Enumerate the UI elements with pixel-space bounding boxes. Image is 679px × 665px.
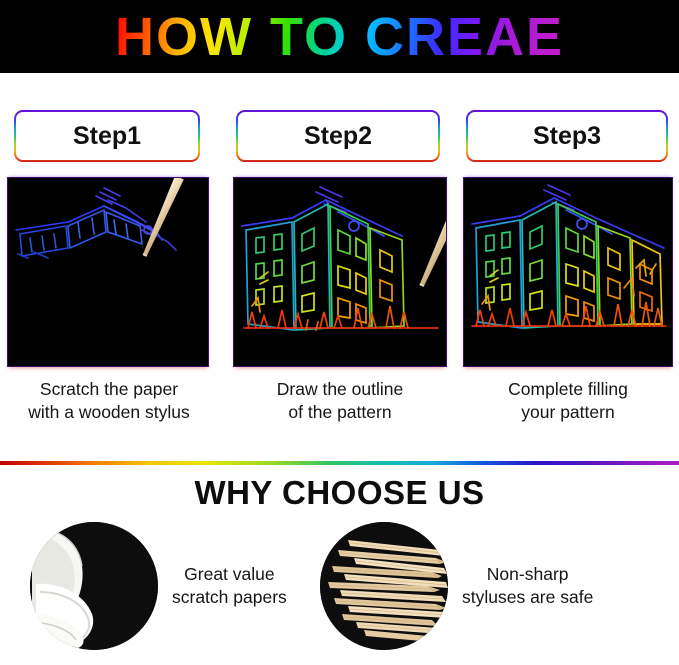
feature-wooden-styluses-caption: Non-sharp styluses are safe (462, 563, 593, 609)
feature-2-line2: styluses are safe (462, 586, 593, 609)
scratch-art-complete-icon (464, 178, 672, 366)
step-caption-1-line2: with a wooden stylus (4, 401, 214, 424)
step-caption-2: Draw the outline of the pattern (232, 378, 448, 424)
step-labels-row: Step1 Step2 Step3 (0, 110, 679, 168)
step-label-box-1: Step1 (14, 110, 200, 162)
step-image-2 (234, 178, 446, 366)
feature-1-line2: scratch papers (172, 586, 287, 609)
step-panels-row (0, 178, 679, 368)
step-label-box-2: Step2 (236, 110, 440, 162)
step-captions-row: Scratch the paper with a wooden stylus D… (0, 378, 679, 440)
step-image-3 (464, 178, 672, 366)
step-label-inner-3: Step3 (468, 112, 666, 160)
step-caption-2-line1: Draw the outline (232, 378, 448, 401)
why-choose-us-title: WHY CHOOSE US (0, 474, 679, 512)
step-label-text-2: Step2 (304, 122, 372, 151)
features-row: Great value scratch papers (0, 522, 679, 665)
scratch-art-partial-icon (8, 178, 208, 366)
scratch-paper-photo (30, 522, 158, 650)
step-caption-3: Complete filling your pattern (462, 378, 674, 424)
header-banner: HOW TO CREAE (0, 0, 679, 73)
scratch-art-outline-icon (234, 178, 446, 366)
step-label-text-1: Step1 (73, 122, 141, 151)
page-title: HOW TO CREAE (115, 10, 564, 64)
step-caption-3-line2: your pattern (462, 401, 674, 424)
feature-2-line1: Non-sharp (462, 563, 593, 586)
step-caption-1: Scratch the paper with a wooden stylus (4, 378, 214, 424)
step-label-inner-1: Step1 (16, 112, 198, 160)
feature-scratch-papers-caption: Great value scratch papers (172, 563, 287, 609)
step-image-1 (8, 178, 208, 366)
step-label-box-3: Step3 (466, 110, 668, 162)
feature-wooden-styluses: Non-sharp styluses are safe (320, 522, 593, 650)
step-caption-1-line1: Scratch the paper (4, 378, 214, 401)
step-label-text-3: Step3 (533, 122, 601, 151)
step-caption-2-line2: of the pattern (232, 401, 448, 424)
step-label-inner-2: Step2 (238, 112, 438, 160)
rainbow-divider (0, 461, 679, 465)
feature-scratch-papers: Great value scratch papers (30, 522, 287, 650)
feature-1-line1: Great value (172, 563, 287, 586)
wooden-styluses-photo (320, 522, 448, 650)
step-caption-3-line1: Complete filling (462, 378, 674, 401)
